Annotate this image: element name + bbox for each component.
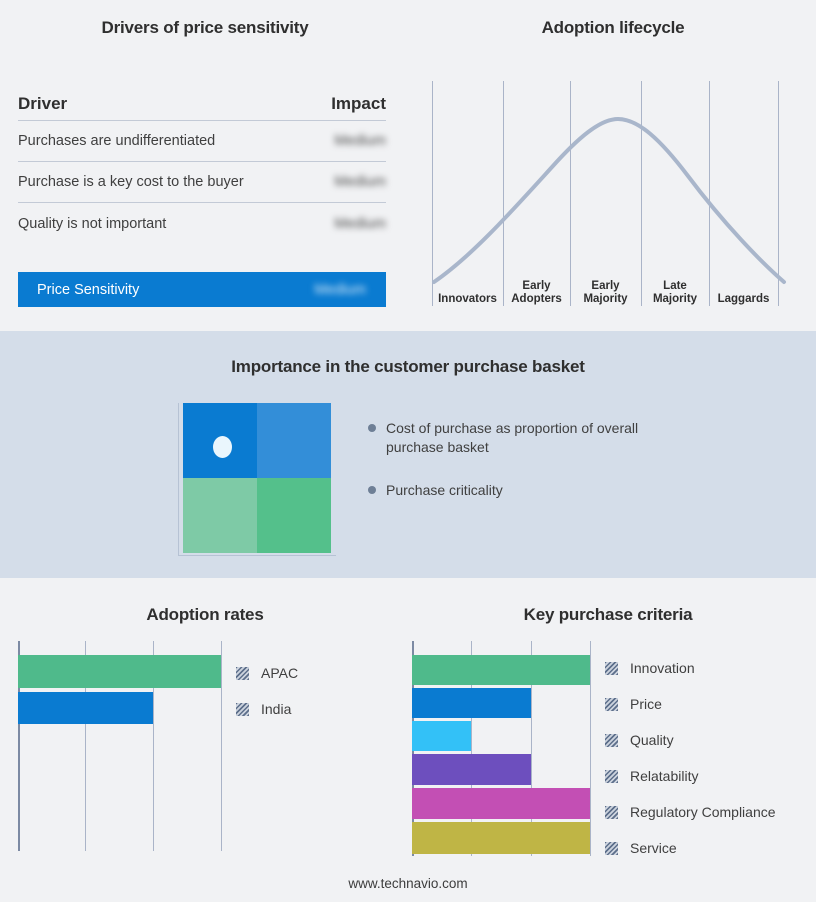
list-item: APAC: [236, 665, 298, 681]
bullet-icon: [368, 424, 376, 432]
basket-legend-label: Cost of purchase as proportion of overal…: [386, 419, 658, 457]
adoption-bar-apac: [18, 655, 221, 688]
criteria-legend-label: Relatability: [630, 768, 698, 784]
list-item: Regulatory Compliance: [605, 804, 776, 820]
column-header-impact: Impact: [308, 94, 386, 114]
hatch-swatch-icon: [605, 662, 618, 675]
basket-panel-title: Importance in the customer purchase bask…: [0, 357, 816, 377]
driver-name: Purchases are undifferentiated: [18, 133, 215, 149]
key-purchase-criteria-legend: Innovation Price Quality Relatability Re…: [605, 660, 776, 856]
driver-impact-value: Medium: [308, 174, 386, 190]
criteria-gridline-3: [590, 641, 591, 856]
top-section-background: Drivers of price sensitivity Driver Impa…: [0, 0, 816, 331]
quadrant-cell-top-right: [257, 403, 331, 478]
importance-purchase-basket-panel: Importance in the customer purchase bask…: [0, 331, 816, 578]
hatch-swatch-icon: [605, 698, 618, 711]
quadrant-cell-top-left: [183, 403, 257, 478]
hatch-swatch-icon: [605, 806, 618, 819]
hatch-swatch-icon: [236, 703, 249, 716]
driver-impact-value: Medium: [308, 133, 386, 149]
adoption-rates-plot-area: [18, 641, 222, 851]
criteria-bar-price: [412, 688, 531, 718]
table-row: Purchases are undifferentiated Medium: [18, 121, 386, 162]
key-purchase-criteria-panel: Key purchase criteria Innovation Price: [400, 578, 816, 902]
criteria-bar-relatability: [412, 754, 531, 785]
lifecycle-label-innovators: Innovators: [432, 293, 503, 306]
drivers-table-header-row: Driver Impact: [18, 88, 386, 121]
list-item: Quality: [605, 732, 776, 748]
basket-legend-label: Purchase criticality: [386, 481, 503, 500]
basket-legend: Cost of purchase as proportion of overal…: [368, 419, 658, 524]
column-header-driver: Driver: [18, 94, 67, 114]
list-item: Price: [605, 696, 776, 712]
bottom-section-background: Adoption rates APAC India Key purchase c…: [0, 578, 816, 902]
quadrant-y-axis: [178, 403, 179, 556]
hatch-swatch-icon: [605, 734, 618, 747]
hatch-swatch-icon: [236, 667, 249, 680]
criteria-legend-label: Regulatory Compliance: [630, 804, 776, 820]
list-item: Purchase criticality: [368, 481, 658, 500]
table-row: Quality is not important Medium: [18, 203, 386, 244]
footer-source-url: www.technavio.com: [0, 876, 816, 891]
adoption-rates-title: Adoption rates: [0, 605, 410, 625]
price-sensitivity-impact-value: Medium: [288, 282, 366, 298]
list-item: India: [236, 701, 298, 717]
adoption-bar-india: [18, 692, 153, 724]
criteria-legend-label: Service: [630, 840, 677, 856]
quadrant-cell-bottom-left: [183, 478, 257, 553]
price-sensitivity-label: Price Sensitivity: [37, 282, 139, 298]
adoption-legend-label: APAC: [261, 665, 298, 681]
criteria-plot-area: [412, 641, 592, 856]
hatch-swatch-icon: [605, 770, 618, 783]
drivers-panel-title: Drivers of price sensitivity: [0, 18, 410, 38]
quadrant-x-axis: [178, 555, 336, 556]
key-purchase-criteria-title: Key purchase criteria: [400, 605, 816, 625]
lifecycle-plot-area: Innovators Early Adopters Early Majority…: [432, 81, 802, 306]
criteria-legend-label: Quality: [630, 732, 674, 748]
criteria-bar-service: [412, 822, 590, 854]
adoption-rates-legend: APAC India: [236, 665, 298, 717]
criteria-legend-label: Innovation: [630, 660, 695, 676]
drivers-table: Driver Impact Purchases are undifferenti…: [18, 88, 386, 244]
driver-name: Purchase is a key cost to the buyer: [18, 174, 244, 190]
quadrant-matrix: [183, 403, 331, 558]
drivers-of-price-sensitivity-panel: Drivers of price sensitivity Driver Impa…: [0, 0, 410, 331]
list-item: Cost of purchase as proportion of overal…: [368, 419, 658, 457]
price-sensitivity-summary-row: Price Sensitivity Medium: [18, 272, 386, 307]
lifecycle-label-late-majority: Late Majority: [641, 280, 709, 306]
criteria-bar-regulatory-compliance: [412, 788, 590, 819]
list-item: Service: [605, 840, 776, 856]
table-row: Purchase is a key cost to the buyer Medi…: [18, 162, 386, 203]
lifecycle-label-early-adopters: Early Adopters: [503, 280, 570, 306]
list-item: Innovation: [605, 660, 776, 676]
adoption-lifecycle-panel: Adoption lifecycle Innovators Early Adop…: [410, 0, 816, 331]
criteria-bar-innovation: [412, 655, 590, 685]
bullet-icon: [368, 486, 376, 494]
hatch-swatch-icon: [605, 842, 618, 855]
driver-name: Quality is not important: [18, 216, 166, 232]
quadrant-cell-bottom-right: [257, 478, 331, 553]
middle-section-background: Importance in the customer purchase bask…: [0, 331, 816, 578]
adoption-legend-label: India: [261, 701, 291, 717]
driver-impact-value: Medium: [308, 216, 386, 232]
criteria-legend-label: Price: [630, 696, 662, 712]
adoption-rates-panel: Adoption rates APAC India: [0, 578, 410, 902]
criteria-bar-quality: [412, 721, 471, 751]
adoption-gridline-3: [221, 641, 222, 851]
lifecycle-label-laggards: Laggards: [709, 293, 778, 306]
adoption-lifecycle-bell-curve: [432, 81, 802, 306]
quadrant-position-marker: [213, 436, 232, 458]
lifecycle-label-early-majority: Early Majority: [570, 280, 641, 306]
lifecycle-panel-title: Adoption lifecycle: [410, 18, 816, 38]
list-item: Relatability: [605, 768, 776, 784]
